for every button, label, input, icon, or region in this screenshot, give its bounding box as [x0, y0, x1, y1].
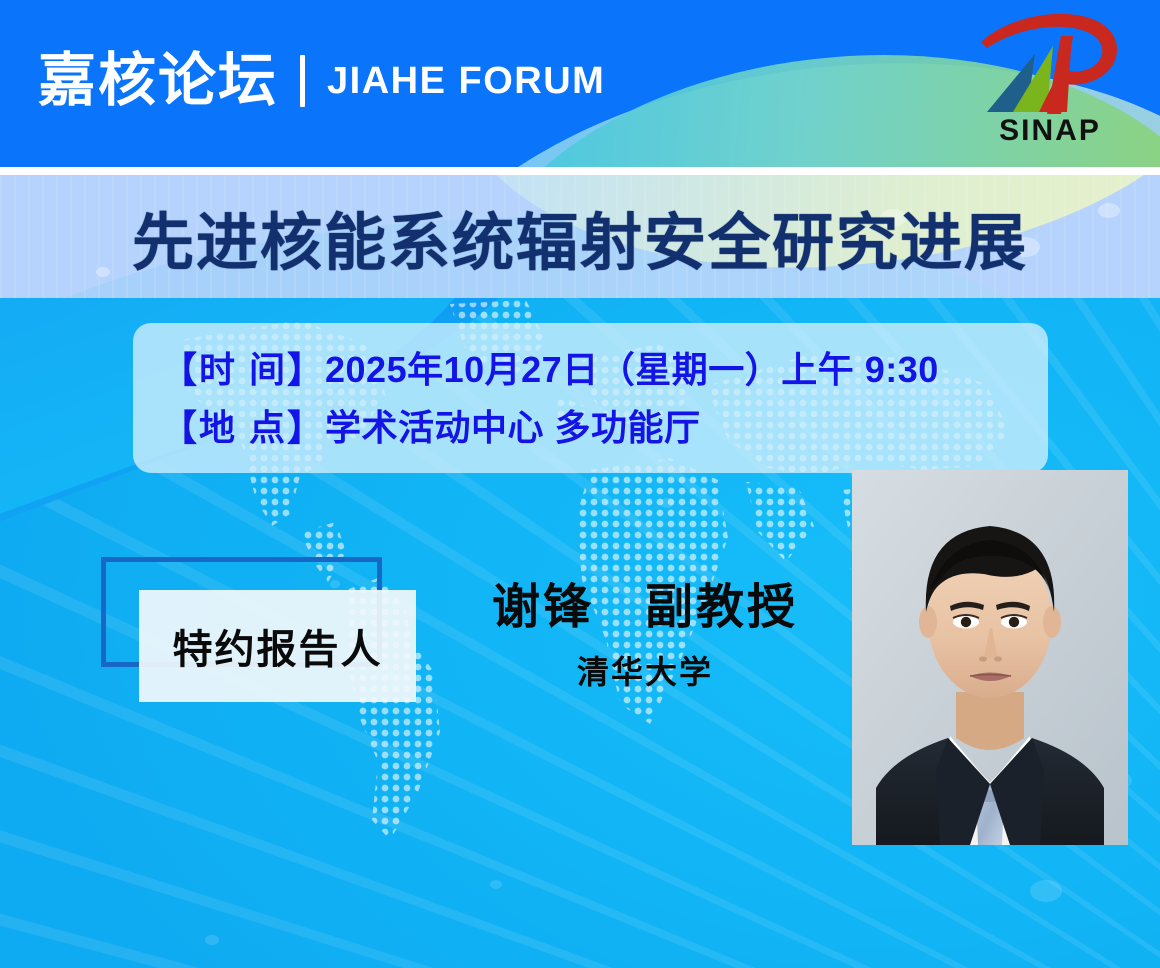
- poster-canvas: 嘉核论坛 JIAHE FORUM SINAP 先: [0, 0, 1160, 968]
- badge-label: 特约报告人: [173, 617, 383, 675]
- decor-bubble: [660, 498, 674, 508]
- sinap-wordmark: SINAP: [999, 114, 1101, 147]
- brand-divider: [300, 55, 305, 107]
- info-value-place: 学术活动中心 多功能厅: [325, 407, 701, 448]
- decor-bubble: [490, 880, 502, 889]
- decor-bubble: [205, 935, 219, 945]
- info-label-time: 【时 间】: [161, 349, 325, 390]
- event-info-panel: 【时 间】2025年10月27日（星期一）上午 9:30 【地 点】学术活动中心…: [133, 323, 1048, 473]
- sinap-logo: SINAP: [973, 8, 1128, 148]
- invited-speaker-badge: 特约报告人: [139, 590, 416, 702]
- brand-title-cn: 嘉核论坛: [38, 52, 278, 110]
- info-label-place: 【地 点】: [161, 407, 325, 448]
- brand-lockup: 嘉核论坛 JIAHE FORUM: [38, 52, 605, 110]
- speaker-name: 谢锋 副教授: [440, 580, 850, 635]
- decor-bubble: [1030, 880, 1062, 902]
- info-row-place: 【地 点】学术活动中心 多功能厅: [161, 399, 1048, 457]
- info-value-time: 2025年10月27日（星期一）上午 9:30: [325, 349, 939, 390]
- page-title: 先进核能系统辐射安全研究进展: [0, 175, 1160, 298]
- speaker-portrait: [852, 470, 1128, 845]
- title-band: 先进核能系统辐射安全研究进展: [0, 175, 1160, 298]
- speaker-affiliation: 清华大学: [440, 647, 850, 693]
- speaker-block: 谢锋 副教授 清华大学: [440, 580, 850, 693]
- header-bar: 嘉核论坛 JIAHE FORUM SINAP: [0, 0, 1160, 167]
- brand-title-en: JIAHE FORUM: [327, 62, 605, 100]
- info-row-time: 【时 间】2025年10月27日（星期一）上午 9:30: [161, 341, 1048, 399]
- header-divider: [0, 167, 1160, 175]
